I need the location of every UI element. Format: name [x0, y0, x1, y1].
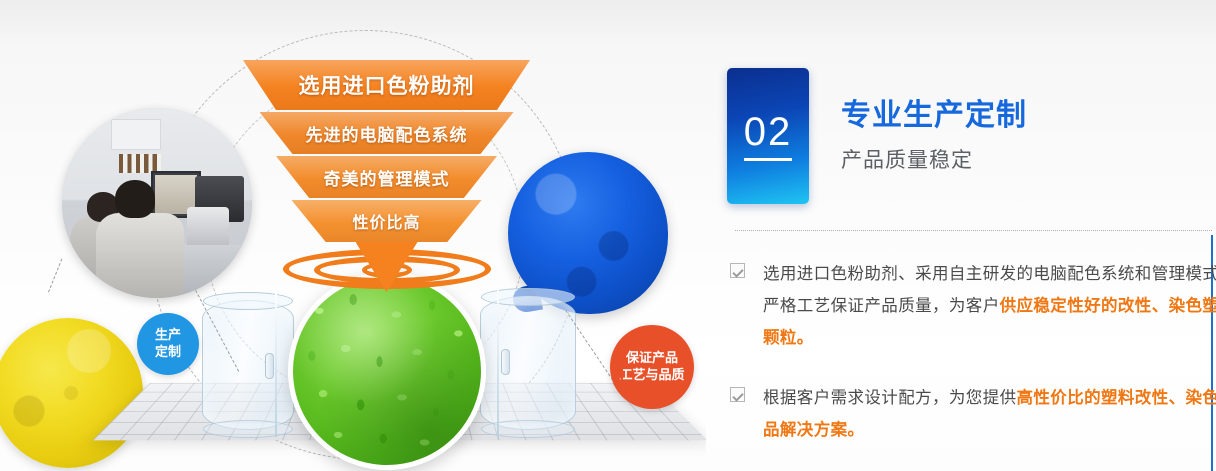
glass-cylinder-left	[202, 300, 294, 430]
page-title: 专业生产定制	[841, 98, 1027, 135]
checkbox-icon	[730, 263, 745, 278]
section-number: 02	[744, 112, 793, 161]
feature-bullet-1-text: 选用进口色粉助剂、采用自主研发的电脑配色系统和管理模式， 严格工艺保证产品质量，…	[763, 258, 1216, 355]
b2-line1: 根据客户需求设计配方，为您提供	[763, 389, 1017, 407]
feature-bullet-2-text: 根据客户需求设计配方，为您提供高性价比的塑料改性、染色产 品解决方案。	[763, 382, 1216, 446]
b1-line2-highlight: 供应稳定性好的改性、染色塑料	[1000, 297, 1216, 315]
section-number-badge: 02	[727, 68, 809, 204]
funnel-level-2: 先进的电脑配色系统	[260, 112, 514, 154]
glass-cylinder-right	[480, 296, 576, 430]
funnel-level-4: 性价比高	[292, 200, 482, 242]
badge-orange-line1: 保证产品	[626, 350, 678, 367]
content-panel: 02 专业生产定制 产品质量稳定 选用进口色粉助剂、采用自主研发的电脑配色系统和…	[706, 0, 1216, 471]
checkbox-icon	[730, 387, 745, 402]
badge-blue-line2: 定制	[155, 344, 181, 361]
lab-workers-photo	[62, 108, 252, 298]
promo-banner: 选用进口色粉助剂 先进的电脑配色系统 奇美的管理模式 性价比高 生产 定制	[0, 0, 1216, 471]
feature-bullet-2: 根据客户需求设计配方，为您提供高性价比的塑料改性、染色产 品解决方案。	[730, 382, 1216, 446]
funnel-level-1: 选用进口色粉助剂	[243, 60, 530, 110]
b1-line2: 严格工艺保证产品质量，为客户	[763, 297, 1000, 315]
badge-quality-guarantee[interactable]: 保证产品 工艺与品质	[610, 325, 694, 409]
section-header-text: 专业生产定制 产品质量稳定	[841, 98, 1027, 174]
product-illustration: 选用进口色粉助剂 先进的电脑配色系统 奇美的管理模式 性价比高 生产 定制	[0, 0, 706, 471]
page-subtitle: 产品质量稳定	[841, 144, 1027, 174]
badge-orange-line2: 工艺与品质	[619, 367, 684, 384]
dotted-divider	[735, 230, 1212, 231]
b1-line1: 选用进口色粉助剂、采用自主研发的电脑配色系统和管理模式，	[763, 265, 1216, 283]
green-plastic-pellets	[288, 272, 486, 470]
b1-line3-highlight: 颗粒。	[763, 329, 814, 347]
badge-production-customization[interactable]: 生产 定制	[137, 313, 199, 375]
b2-line2-highlight: 品解决方案。	[763, 421, 864, 439]
feature-bullet-1: 选用进口色粉助剂、采用自主研发的电脑配色系统和管理模式， 严格工艺保证产品质量，…	[730, 258, 1216, 355]
section-header: 02 专业生产定制 产品质量稳定	[727, 68, 1027, 204]
connector-yellow-to-badge	[48, 259, 62, 293]
badge-blue-line1: 生产	[155, 327, 181, 344]
process-funnel: 选用进口色粉助剂 先进的电脑配色系统 奇美的管理模式 性价比高	[243, 60, 530, 260]
funnel-level-3: 奇美的管理模式	[276, 156, 497, 198]
yellow-pigment-powder	[0, 318, 143, 468]
b2-line1-highlight: 高性价比的塑料改性、染色产	[1017, 389, 1216, 407]
